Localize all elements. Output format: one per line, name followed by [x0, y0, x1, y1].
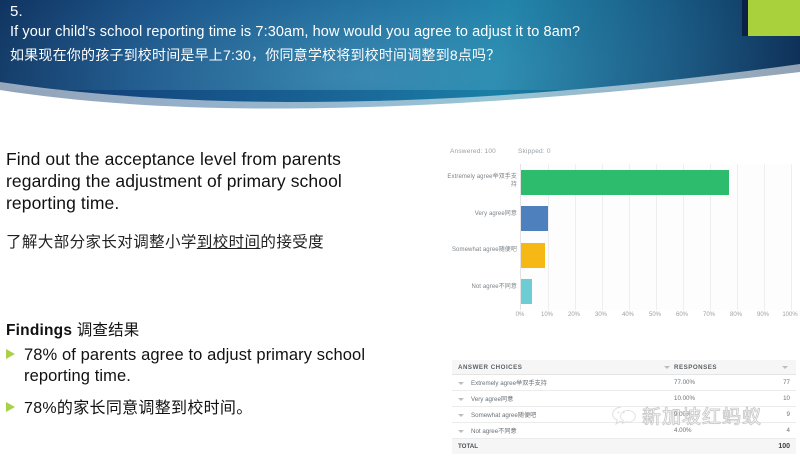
- bullet-text-chinese: 78%的家长同意调整到校时间。: [24, 400, 253, 417]
- slide-root: 5. If your child's school reporting time…: [0, 0, 800, 458]
- findings-heading-english: Findings: [6, 322, 72, 339]
- cell-response-percent: 4.00%: [674, 427, 756, 434]
- grid-line: [791, 164, 792, 310]
- bullet-text-english: 78% of parents agree to adjust primary s…: [24, 346, 365, 385]
- cell-response-count: 4: [756, 427, 796, 434]
- bar-chart-category-label: Not agree不同意: [447, 284, 517, 292]
- x-axis-tick-label: 20%: [568, 312, 580, 318]
- table-body: Extremely agree举双手支持77.00%77Very agree同意…: [452, 375, 796, 439]
- x-axis-tick-label: 10%: [541, 312, 553, 318]
- cell-answer-choice: Somewhat agree随便吧: [452, 410, 674, 419]
- skipped-count-label: Skipped: 0: [518, 148, 551, 155]
- x-axis-tick-label: 30%: [595, 312, 607, 318]
- answer-choice-label: Not agree不同意: [471, 428, 517, 435]
- bar-chart-x-axis: 0%10%20%30%40%50%60%70%80%90%100%: [520, 312, 792, 324]
- x-axis-tick-label: 60%: [676, 312, 688, 318]
- banner-swoosh-curve: [0, 60, 800, 112]
- banner-accent-square: [748, 0, 800, 36]
- list-item: 78%的家长同意调整到校时间。: [6, 398, 406, 419]
- table-total-row: TOTAL 100: [452, 439, 796, 454]
- cell-answer-choice: Not agree不同意: [452, 426, 674, 435]
- cell-response-count: 77: [756, 379, 796, 386]
- table-row: Extremely agree举双手支持77.00%77: [452, 375, 796, 391]
- bar-chart-category: Not agree不同意: [521, 279, 791, 304]
- purpose-zh-suffix: 的接受度: [260, 234, 324, 251]
- table-header-row: ANSWER CHOICES RESPONSES: [452, 360, 796, 375]
- cell-response-percent: 10.00%: [674, 395, 756, 402]
- list-item: 78% of parents agree to adjust primary s…: [6, 345, 406, 387]
- slide-header-banner: 5. If your child's school reporting time…: [0, 0, 800, 112]
- bar-chart-bar: [521, 279, 532, 304]
- survey-chart-panel: Answered: 100Skipped: 0 Extremely agree举…: [444, 146, 796, 338]
- findings-bullet-list: 78% of parents agree to adjust primary s…: [6, 345, 406, 430]
- x-axis-tick-label: 50%: [649, 312, 661, 318]
- cell-response-percent: 9.00%: [674, 411, 756, 418]
- question-text-english: If your child's school reporting time is…: [10, 24, 730, 40]
- bar-chart-category: Somewhat agree随便吧: [521, 243, 791, 268]
- cell-answer-choice: Extremely agree举双手支持: [452, 378, 674, 387]
- left-content-column: Find out the acceptance level from paren…: [6, 148, 406, 254]
- responses-table: ANSWER CHOICES RESPONSES Extremely agree…: [452, 360, 796, 454]
- table-row: Not agree不同意4.00%4: [452, 423, 796, 439]
- purpose-statement-chinese: 了解大部分家长对调整小学到校时间的接受度: [6, 232, 406, 254]
- column-header-answer-choices[interactable]: ANSWER CHOICES: [452, 364, 674, 371]
- x-axis-tick-label: 90%: [757, 312, 769, 318]
- chevron-down-icon[interactable]: [458, 398, 464, 401]
- bar-chart-bar: [521, 206, 548, 231]
- x-axis-tick-label: 80%: [730, 312, 742, 318]
- chevron-down-icon[interactable]: [458, 382, 464, 385]
- triangle-bullet-icon: [6, 349, 15, 359]
- bar-chart-category-label: Somewhat agree随便吧: [447, 247, 517, 255]
- bar-chart-category: Extremely agree举双手支持: [521, 170, 791, 195]
- x-axis-tick-label: 0%: [516, 312, 525, 318]
- chevron-down-icon[interactable]: [782, 366, 788, 369]
- chevron-down-icon[interactable]: [458, 414, 464, 417]
- bar-chart-bar: [521, 170, 729, 195]
- purpose-statement-english: Find out the acceptance level from paren…: [6, 148, 406, 214]
- purpose-zh-underlined: 到校时间: [197, 234, 261, 251]
- x-axis-tick-label: 70%: [703, 312, 715, 318]
- findings-heading: Findings 调查结果: [6, 318, 140, 340]
- answer-choice-label: Extremely agree举双手支持: [471, 380, 547, 387]
- cell-response-percent: 77.00%: [674, 379, 756, 386]
- chevron-down-icon[interactable]: [664, 366, 670, 369]
- x-axis-tick-label: 100%: [782, 312, 797, 318]
- column-header-responses[interactable]: RESPONSES: [674, 364, 756, 371]
- x-axis-tick-label: 40%: [622, 312, 634, 318]
- purpose-zh-prefix: 了解大部分家长对调整小学: [6, 234, 197, 251]
- cell-answer-choice: Very agree同意: [452, 394, 674, 403]
- triangle-bullet-icon: [6, 402, 15, 412]
- findings-heading-chinese: 调查结果: [72, 322, 139, 339]
- chevron-down-icon[interactable]: [458, 430, 464, 433]
- chart-meta-row: Answered: 100Skipped: 0: [450, 148, 551, 155]
- bar-chart-category-label: Extremely agree举双手支持: [447, 174, 517, 189]
- table-row: Very agree同意10.00%10: [452, 391, 796, 407]
- bar-chart-plot-area: Extremely agree举双手支持Very agree同意Somewhat…: [520, 164, 791, 310]
- answered-count-label: Answered: 100: [450, 148, 496, 155]
- cell-response-count: 9: [756, 411, 796, 418]
- answer-choice-label: Very agree同意: [471, 396, 513, 403]
- answer-choice-label: Somewhat agree随便吧: [471, 412, 536, 419]
- total-value: 100: [756, 443, 796, 450]
- bar-chart-category: Very agree同意: [521, 206, 791, 231]
- question-number: 5.: [10, 3, 23, 20]
- total-label: TOTAL: [452, 443, 674, 450]
- bar-chart-category-label: Very agree同意: [447, 211, 517, 219]
- bar-chart-bar: [521, 243, 545, 268]
- cell-response-count: 10: [756, 395, 796, 402]
- table-row: Somewhat agree随便吧9.00%9: [452, 407, 796, 423]
